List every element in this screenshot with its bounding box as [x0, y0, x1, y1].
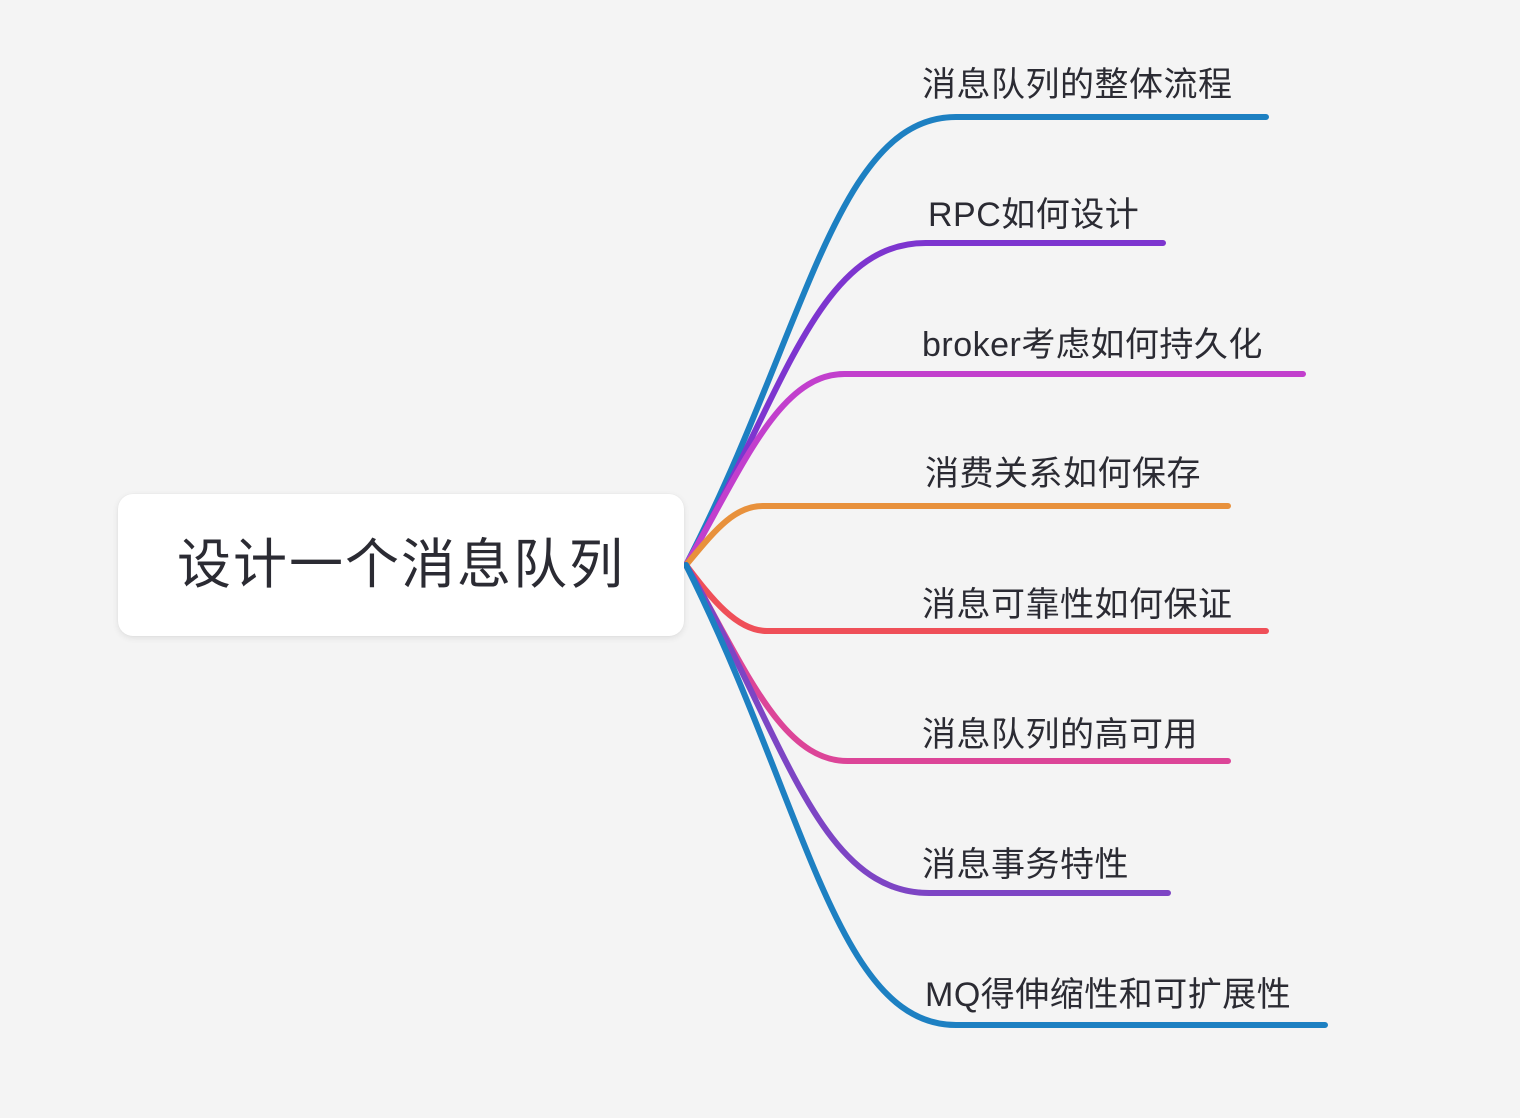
branch-label-7[interactable]: MQ得伸缩性和可扩展性: [925, 978, 1291, 1012]
branch-label-3[interactable]: 消费关系如何保存: [925, 457, 1201, 491]
branch-connector-1: [686, 243, 1163, 565]
branch-connector-7: [686, 565, 1325, 1025]
branch-label-2[interactable]: broker考虑如何持久化: [922, 328, 1263, 362]
root-node[interactable]: 设计一个消息队列: [118, 494, 684, 636]
branch-label-6[interactable]: 消息事务特性: [922, 848, 1129, 882]
branch-label-4[interactable]: 消息可靠性如何保证: [922, 588, 1233, 622]
root-node-label: 设计一个消息队列: [177, 538, 625, 592]
branch-label-5[interactable]: 消息队列的高可用: [922, 718, 1198, 752]
branch-label-1[interactable]: RPC如何设计: [928, 198, 1139, 232]
branch-connector-3: [686, 506, 1228, 565]
mindmap-canvas: 设计一个消息队列 消息队列的整体流程 RPC如何设计 broker考虑如何持久化…: [0, 0, 1520, 1118]
branch-label-0[interactable]: 消息队列的整体流程: [922, 68, 1233, 102]
